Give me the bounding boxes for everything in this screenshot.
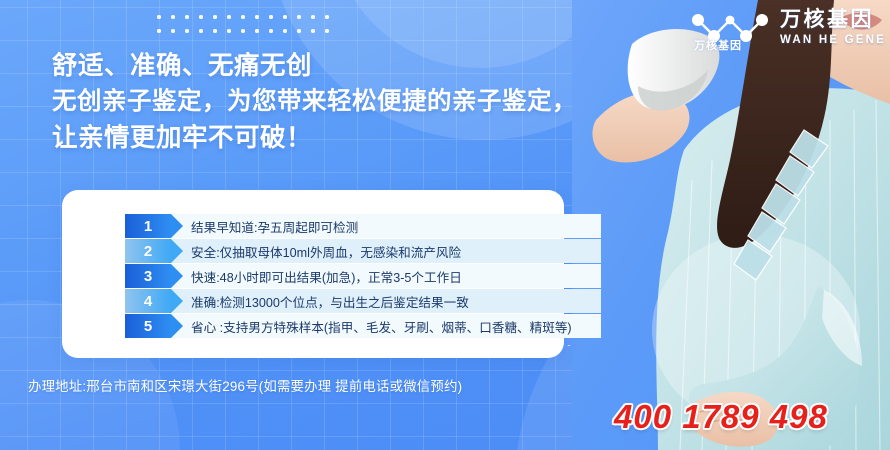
brand-logo[interactable]: 万核基因 万核基因 WAN HE GENE (688, 6, 886, 52)
feature-number-badge: 2 (125, 239, 171, 263)
hotline-phone-number[interactable]: 400 1789 498 (614, 398, 828, 436)
feature-row: 1结果早知道:孕五周起即可检测 (125, 214, 601, 238)
feature-row: 3快速:48小时即可出结果(加急)，正常3-5个工作日 (125, 264, 601, 288)
feature-text: 结果早知道:孕五周起即可检测 (191, 217, 358, 236)
feature-row: 4准确:检测13000个位点，与出生之后鉴定结果一致 (125, 289, 601, 313)
brand-name-en: WAN HE GENE (780, 35, 886, 47)
headline-line-1: 舒适、准确、无痛无创 (52, 48, 577, 84)
feature-number-badge: 4 (125, 289, 171, 313)
feature-number-badge: 1 (125, 214, 171, 238)
office-address: 办理地址:邢台市南和区宋璟大街296号(如需要办理 提前电话或微信预约) (28, 375, 462, 395)
dot-matrix-top (152, 10, 338, 43)
headline-line-2: 无创亲子鉴定，为您带来轻松便捷的亲子鉴定， (52, 84, 577, 120)
feature-text: 省心 :支持男方特殊样本(指甲、毛发、牙刷、烟蒂、口香糖、精斑等) (191, 317, 572, 336)
promo-banner: 万核基因 万核基因 WAN HE GENE 舒适、准确、无痛无创 无创亲子鉴定，… (0, 0, 890, 450)
headline: 舒适、准确、无痛无创 无创亲子鉴定，为您带来轻松便捷的亲子鉴定， 让亲情更加牢不… (52, 48, 577, 156)
brand-name-cn: 万核基因 (780, 9, 886, 30)
logo-mark-caption: 万核基因 (694, 37, 742, 53)
headline-line-3: 让亲情更加牢不可破！ (52, 120, 577, 156)
feature-text: 快速:48小时即可出结果(加急)，正常3-5个工作日 (191, 267, 462, 286)
feature-text: 安全:仅抽取母体10ml外周血，无感染和流产风险 (191, 242, 461, 261)
feature-text: 准确:检测13000个位点，与出生之后鉴定结果一致 (191, 292, 469, 311)
feature-row: 5省心 :支持男方特殊样本(指甲、毛发、牙刷、烟蒂、口香糖、精斑等) (125, 314, 601, 338)
feature-row: 2安全:仅抽取母体10ml外周血，无感染和流产风险 (125, 239, 601, 263)
feature-list: 1结果早知道:孕五周起即可检测2安全:仅抽取母体10ml外周血，无感染和流产风险… (125, 214, 603, 339)
molecule-network-icon: 万核基因 (688, 6, 772, 52)
feature-number-badge: 5 (125, 314, 171, 338)
feature-card: 1结果早知道:孕五周起即可检测2安全:仅抽取母体10ml外周血，无感染和流产风险… (62, 190, 564, 358)
hero-photo (572, 0, 890, 450)
feature-number-badge: 3 (125, 264, 171, 288)
